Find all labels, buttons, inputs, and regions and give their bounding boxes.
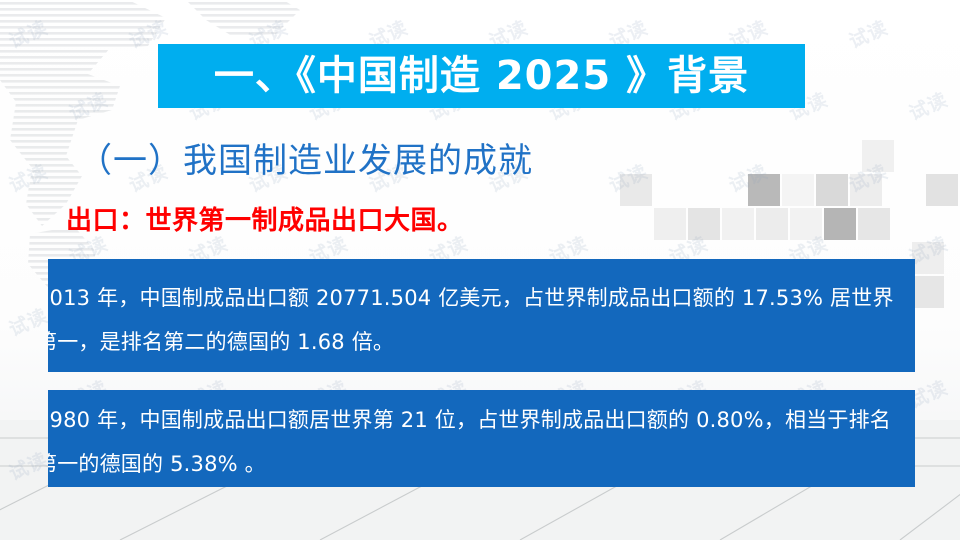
export-headline: 出口：世界第一制成品出口大国。 [66,200,464,237]
slide-title-banner: 一、《中国制造 2025 》背景 [158,44,805,108]
content-box-1980-text: 1980 年，中国制成品出口额居世界第 21 位，占世界制成品出口额的 0.80… [48,398,907,486]
presentation-slide: 试读试读试读试读试读试读试读试读 试读试读试读试读试读试读试读试读试读 试读试读… [0,0,960,540]
section-subtitle: （一）我国制造业发展的成就 [78,133,533,182]
page-title: 一、《中国制造 2025 》背景 [214,56,749,96]
content-box-2013: 2013 年，中国制成品出口额 20771.504 亿美元，占世界制成品出口额的… [48,259,915,372]
content-box-1980: 1980 年，中国制成品出口额居世界第 21 位，占世界制成品出口额的 0.80… [48,390,915,487]
content-box-2013-text: 2013 年，中国制成品出口额 20771.504 亿美元，占世界制成品出口额的… [48,276,907,364]
